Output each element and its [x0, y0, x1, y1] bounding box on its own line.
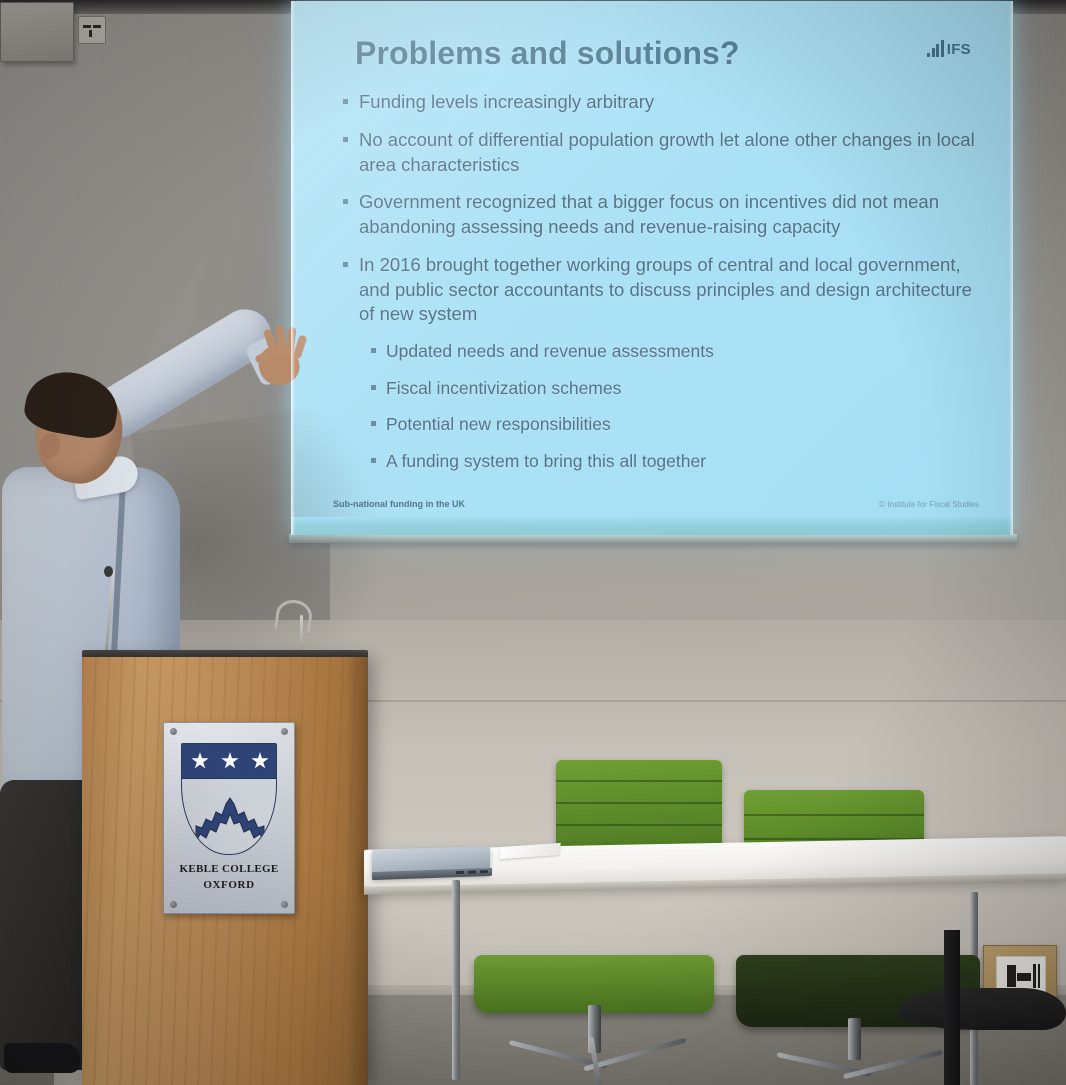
ifs-bar [941, 40, 944, 57]
ifs-bar [936, 44, 939, 57]
projected-slide: Problems and solutions? IFS Funding leve… [291, 1, 1013, 535]
ifs-bar [932, 48, 935, 57]
slide-sub-bullet: Fiscal incentivization schemes [371, 377, 985, 400]
slide-bullet: Government recognized that a bigger focu… [343, 190, 985, 240]
slide-footer-left: Sub-national funding in the UK [333, 499, 465, 509]
slide-sub-bullet: A funding system to bring this all toget… [371, 450, 985, 473]
microphone-head-icon [104, 566, 113, 577]
ifs-logo: IFS [927, 39, 971, 57]
plaque-line-2: OXFORD [164, 879, 294, 891]
presenter-shoe [4, 1043, 80, 1073]
slide-bullet: In 2016 brought together working groups … [343, 253, 985, 327]
table-leg-left [452, 880, 460, 1080]
slide-title: Problems and solutions? [355, 35, 985, 72]
ifs-wordmark: IFS [947, 42, 971, 57]
chair-left-backrest [556, 760, 722, 856]
slide-footer: Sub-national funding in the UK © Institu… [291, 495, 1013, 513]
slide-bullet-list: Funding levels increasingly arbitrary No… [343, 90, 985, 473]
slide-sub-bullet: Updated needs and revenue assessments [371, 340, 985, 363]
chair-right-column [848, 1018, 861, 1060]
screen-bottom-lip [289, 534, 1017, 543]
ifs-bars-icon [927, 39, 944, 57]
crest-chief [182, 744, 276, 779]
wall-mounted-box [0, 2, 74, 62]
slide-left-glow [291, 1, 295, 535]
plaque-line-1: KEBLE COLLEGE [164, 863, 294, 875]
conference-photo: Problems and solutions? IFS Funding leve… [0, 0, 1066, 1085]
slide-bullet: No account of differential population gr… [343, 128, 985, 178]
wall-socket [78, 16, 106, 44]
keble-crest-icon [181, 743, 277, 855]
crest-chevron [190, 786, 270, 844]
keble-college-plaque: KEBLE COLLEGE OXFORD [163, 722, 295, 914]
chair-left [556, 760, 722, 856]
slide-footer-right: © Institute for Fiscal Studies [879, 500, 979, 509]
slide-bullet: Funding levels increasingly arbitrary [343, 90, 985, 115]
slide-right-glow [1009, 1, 1013, 535]
slide-sub-bullet: Potential new responsibilities [371, 413, 985, 436]
dark-post [944, 930, 960, 1085]
ifs-bar [927, 53, 930, 57]
floor-bag [898, 988, 1066, 1030]
